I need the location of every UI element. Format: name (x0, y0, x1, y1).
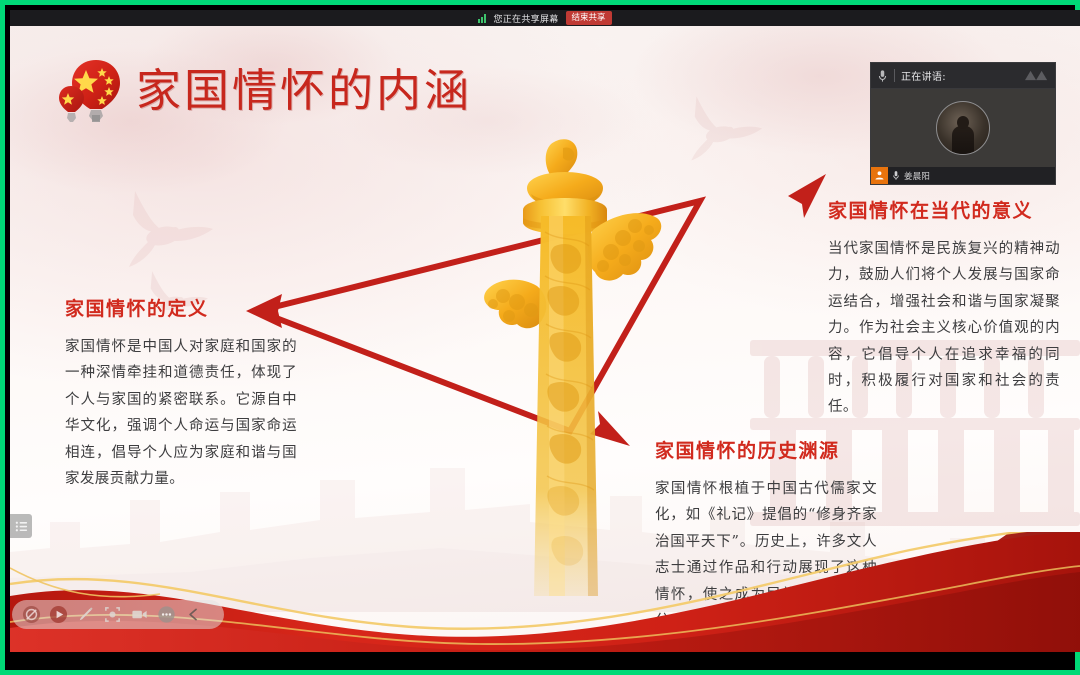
block-body: 家国情怀是中国人对家庭和国家的一种深情牵挂和道德责任，体现了个人与家国的紧密联系… (65, 334, 297, 492)
stop-record-icon[interactable] (20, 603, 43, 626)
block-heading: 家国情怀的定义 (65, 294, 297, 321)
pen-icon[interactable] (74, 603, 97, 626)
video-panel-footer: 姜晨阳 (871, 167, 1055, 184)
microphone-icon (877, 69, 888, 83)
video-feed-area[interactable] (871, 89, 1055, 167)
video-panel-header: 正在讲语: (871, 63, 1055, 89)
presentation-toolbar[interactable] (12, 600, 224, 629)
share-status-text: 您正在共享屏幕 (493, 12, 558, 25)
avatar-head (957, 116, 969, 129)
block-body: 当代家国情怀是民族复兴的精神动力，鼓励人们将个人发展与国家命运结合，增强社会和谐… (828, 236, 1060, 421)
huabiao-pillar-image (465, 136, 665, 596)
dove-icon (105, 181, 215, 276)
more-icon[interactable] (155, 603, 178, 626)
block-heading: 家国情怀在当代的意义 (828, 196, 1060, 223)
microphone-icon (892, 170, 900, 181)
video-participant-panel[interactable]: 正在讲语: (870, 62, 1056, 185)
double-chevron-icon[interactable] (1025, 70, 1049, 82)
block-heading: 家国情怀的历史渊源 (655, 436, 877, 463)
text-block-history: 家国情怀的历史渊源 家国情怀根植于中国古代儒家文化，如《礼记》提倡的“修身齐家治… (655, 436, 877, 634)
block-body: 家国情怀根植于中国古代儒家文化，如《礼记》提倡的“修身齐家治国平天下”。历史上，… (655, 476, 877, 634)
title-area: 家国情怀的内涵 (58, 54, 472, 126)
text-block-definition: 家国情怀的定义 家国情怀是中国人对家庭和国家的一种深情牵挂和道德责任，体现了个人… (65, 294, 297, 492)
avatar-body (952, 126, 974, 155)
hot-air-balloon-icon (58, 54, 122, 126)
participant-name: 姜晨阳 (904, 170, 930, 182)
chevron-left-icon[interactable] (182, 603, 205, 626)
dove-icon (670, 88, 765, 168)
presentation-slide: 家国情怀的内涵 (10, 26, 1080, 652)
header-divider (894, 69, 895, 82)
screenshot-icon[interactable] (101, 603, 124, 626)
participant-avatar (936, 101, 990, 155)
ribbon-decoration (10, 532, 1080, 652)
play-icon[interactable] (47, 603, 70, 626)
screen-share-frame: 您正在共享屏幕 结束共享 (0, 0, 1080, 675)
end-share-button[interactable]: 结束共享 (566, 11, 612, 24)
list-menu-icon[interactable] (10, 514, 32, 538)
page-title: 家国情怀的内涵 (136, 68, 472, 113)
screen-share-bar: 您正在共享屏幕 结束共享 (10, 10, 1080, 26)
signal-bars-icon (478, 14, 486, 23)
host-person-icon (871, 167, 888, 184)
speaking-label: 正在讲语: (901, 68, 1019, 83)
camera-icon[interactable] (128, 603, 151, 626)
text-block-modern-significance: 家国情怀在当代的意义 当代家国情怀是民族复兴的精神动力，鼓励人们将个人发展与国家… (828, 196, 1060, 421)
